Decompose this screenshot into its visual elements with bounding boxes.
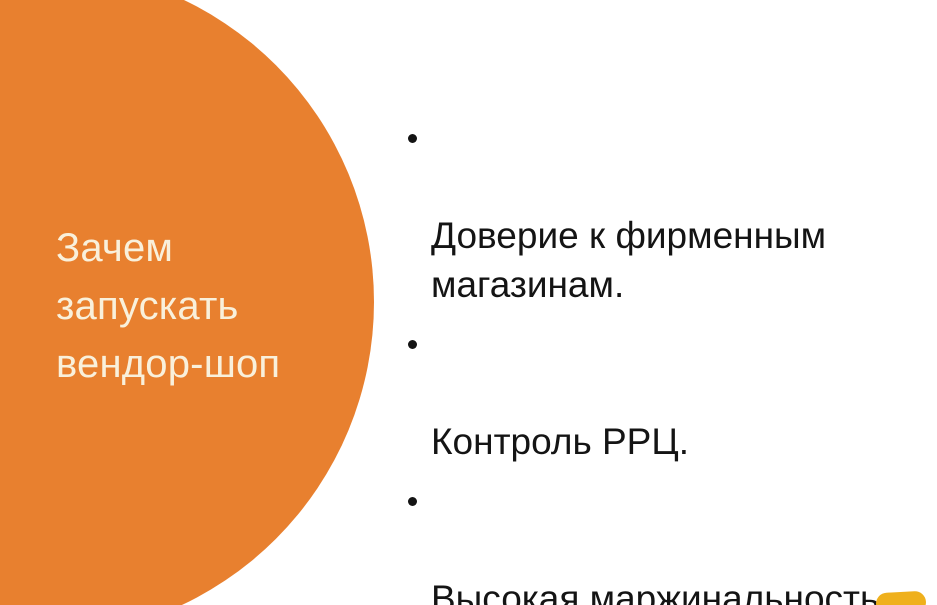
yellow-pill-accent bbox=[875, 591, 926, 605]
bullet-dot-icon bbox=[408, 134, 417, 143]
list-item-label: Доверие к фирменным магазинам. bbox=[431, 215, 826, 305]
list-item-label: Контроль РРЦ. bbox=[431, 421, 689, 462]
benefits-list: Доверие к фирменным магазинам. Контроль … bbox=[405, 113, 925, 605]
slide-title: Зачем запускать вендор-шоп bbox=[56, 219, 356, 393]
list-item-label: Высокая маржинальность. bbox=[431, 578, 890, 605]
list-item: Высокая маржинальность. bbox=[405, 476, 925, 605]
bullet-dot-icon bbox=[408, 497, 417, 506]
list-item: Контроль РРЦ. bbox=[405, 319, 925, 466]
list-item: Доверие к фирменным магазинам. bbox=[405, 113, 925, 309]
bullet-dot-icon bbox=[408, 340, 417, 349]
slide-canvas: Зачем запускать вендор-шоп Доверие к фир… bbox=[0, 0, 937, 605]
